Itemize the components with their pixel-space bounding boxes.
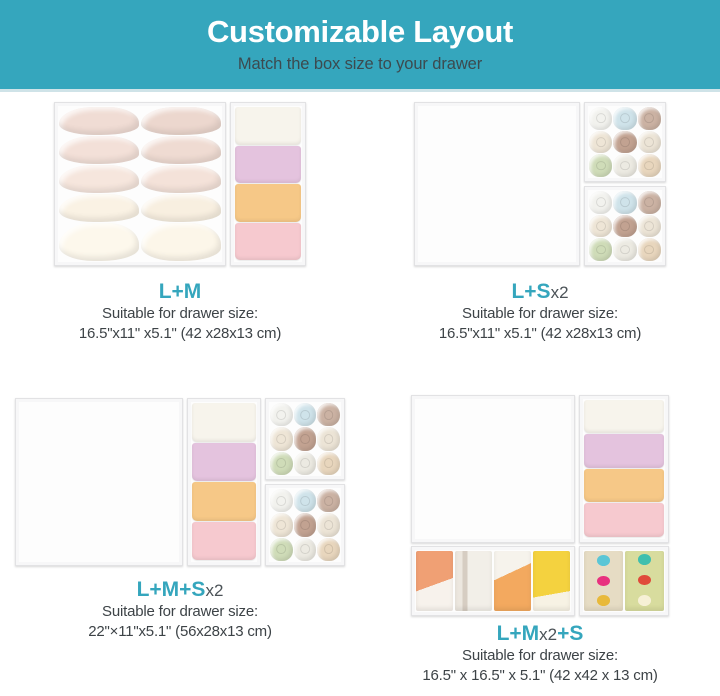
clothes-column-left — [20, 403, 99, 408]
towel — [494, 551, 531, 611]
panel-lmsx2-caption-line2: 22"×11"x5.1" (56x28x13 cm) — [0, 622, 360, 642]
panel-lmx2s-top-row — [411, 395, 669, 543]
folded-underwear — [584, 503, 664, 537]
clothes-column-right — [493, 400, 570, 405]
panel-lmx2s-caption: L+Mx2+S Suitable for drawer size: 16.5" … — [360, 622, 720, 687]
sock-roll-grid — [589, 191, 661, 261]
large-box-clothes — [15, 398, 183, 566]
panel-lsx2-photo — [414, 102, 666, 272]
clothes-column-right — [99, 403, 178, 408]
bra-cup — [141, 107, 221, 135]
panel-lm-caption-line2: 16.5"x11" x5.1" (42 x28x13 cm) — [0, 324, 360, 344]
bra-cup — [141, 165, 221, 193]
towel — [533, 551, 570, 611]
knit-motif — [638, 554, 651, 565]
small-box-knitwear — [579, 546, 669, 616]
panel-lm[interactable]: L+M Suitable for drawer size: 16.5"x11" … — [0, 92, 360, 394]
medium-box-underwear — [187, 398, 261, 566]
folded-underwear — [192, 482, 256, 521]
medium-box-underwear — [230, 102, 306, 266]
sock-roll — [294, 427, 317, 450]
sock-roll — [270, 538, 293, 561]
sock-roll — [589, 215, 612, 238]
bra-row — [59, 194, 221, 222]
sock-roll — [613, 215, 636, 238]
towel — [416, 551, 453, 611]
sock-roll — [270, 452, 293, 475]
sock-roll-grid — [589, 107, 661, 177]
bra-cup — [59, 136, 139, 164]
sock-roll — [317, 538, 340, 561]
panel-lmx2s-caption-line1: Suitable for drawer size: — [360, 646, 720, 666]
panel-lmx2s-caption-line2: 16.5" x 16.5" x 5.1" (42 x42 x 13 cm) — [360, 666, 720, 686]
sock-roll — [613, 154, 636, 177]
combo-main-b: +S — [557, 622, 583, 645]
panel-lsx2-combo: L+Sx2 — [360, 280, 720, 304]
clothes-column-left — [419, 107, 497, 112]
knit-motif — [597, 555, 610, 566]
sock-roll — [638, 107, 661, 130]
folded-underwear — [192, 522, 256, 561]
sock-roll — [294, 403, 317, 426]
large-box-bras — [54, 102, 226, 266]
page-title: Customizable Layout — [207, 15, 513, 49]
sock-roll — [270, 403, 293, 426]
sock-roll — [270, 489, 293, 512]
knit-item — [625, 551, 664, 611]
sock-roll — [613, 238, 636, 261]
sock-roll — [294, 538, 317, 561]
knit-motif — [638, 595, 651, 606]
clothes-column-left — [416, 400, 493, 405]
combo-main: L+M+S — [137, 578, 206, 601]
knit-stack — [584, 551, 664, 611]
sock-roll — [613, 131, 636, 154]
bra-cup — [141, 194, 221, 222]
sock-roll — [589, 154, 612, 177]
underwear-stack — [192, 403, 256, 561]
sock-roll — [638, 131, 661, 154]
combo-main: L+S — [511, 280, 550, 303]
panel-lmx2s-combo: L+Mx2+S — [360, 622, 720, 646]
small-box-socks-1 — [265, 398, 345, 480]
folded-underwear — [584, 469, 664, 503]
panel-lmx2s-photo — [411, 394, 669, 616]
bra-row — [59, 165, 221, 193]
panel-lsx2-caption-line2: 16.5"x11" x5.1" (42 x28x13 cm) — [360, 324, 720, 344]
folded-underwear — [235, 223, 301, 261]
bra-cup — [59, 107, 139, 135]
panel-lsx2-caption-line1: Suitable for drawer size: — [360, 304, 720, 324]
folded-underwear — [192, 443, 256, 482]
panel-lm-combo: L+M — [0, 280, 360, 304]
bra-stack — [59, 107, 221, 261]
panel-lm-caption: L+M Suitable for drawer size: 16.5"x11" … — [0, 280, 360, 345]
sock-roll — [317, 489, 340, 512]
towel-stack — [416, 551, 570, 611]
panel-lmsx2[interactable]: L+M+Sx2 Suitable for drawer size: 22"×11… — [0, 394, 360, 696]
sock-roll — [294, 452, 317, 475]
medium-box-underwear — [579, 395, 669, 543]
panel-lmsx2-caption: L+M+Sx2 Suitable for drawer size: 22"×11… — [0, 578, 360, 643]
sock-roll — [294, 489, 317, 512]
clothes-column-right — [497, 107, 575, 112]
combo-main-a: L+M — [497, 622, 540, 645]
sock-roll — [317, 427, 340, 450]
panel-lmsx2-caption-line1: Suitable for drawer size: — [0, 602, 360, 622]
bra-cup — [59, 194, 139, 222]
page-subtitle: Match the box size to your drawer — [238, 55, 482, 74]
folded-underwear — [584, 434, 664, 468]
folded-underwear — [192, 403, 256, 442]
small-box-socks-2 — [265, 484, 345, 566]
knit-motif — [638, 575, 651, 586]
bra-cup — [59, 165, 139, 193]
page-header: Customizable Layout Match the box size t… — [0, 0, 720, 92]
panel-lmx2s-bottom-row — [411, 546, 669, 616]
sock-roll-grid — [270, 403, 340, 475]
panel-lm-photo — [54, 102, 306, 272]
panel-lmsx2-photo — [15, 398, 345, 570]
panel-lsx2-caption: L+Sx2 Suitable for drawer size: 16.5"x11… — [360, 280, 720, 345]
sock-roll — [589, 107, 612, 130]
folded-underwear — [584, 400, 664, 434]
sock-roll — [317, 403, 340, 426]
large-box-clothes — [414, 102, 580, 266]
underwear-stack — [235, 107, 301, 261]
large-box-towels — [411, 546, 575, 616]
sock-roll — [638, 154, 661, 177]
sock-roll — [589, 191, 612, 214]
panel-lsx2[interactable]: L+Sx2 Suitable for drawer size: 16.5"x11… — [360, 92, 720, 394]
knit-motif — [597, 595, 610, 606]
panel-lm-caption-line1: Suitable for drawer size: — [0, 304, 360, 324]
bra-row — [59, 136, 221, 164]
small-box-stack — [265, 398, 345, 566]
sock-roll — [613, 107, 636, 130]
small-box-socks-1 — [584, 102, 666, 182]
panel-lmsx2-combo: L+M+Sx2 — [0, 578, 360, 602]
sock-roll — [270, 513, 293, 536]
folded-underwear — [235, 107, 301, 145]
underwear-stack — [584, 400, 664, 538]
bra-cup — [141, 223, 221, 261]
sock-roll — [294, 513, 317, 536]
sock-roll — [638, 191, 661, 214]
folded-underwear — [235, 184, 301, 222]
sock-roll — [613, 191, 636, 214]
folded-underwear — [235, 146, 301, 184]
towel — [455, 551, 492, 611]
panel-lmx2s[interactable]: L+Mx2+S Suitable for drawer size: 16.5" … — [360, 394, 720, 696]
small-box-socks-2 — [584, 186, 666, 266]
knit-motif — [597, 576, 610, 587]
bra-cup — [141, 136, 221, 164]
layout-grid: L+M Suitable for drawer size: 16.5"x11" … — [0, 92, 720, 696]
bra-row — [59, 223, 221, 261]
sock-roll-grid — [270, 489, 340, 561]
combo-multiplier: x2 — [551, 283, 569, 302]
sock-roll — [589, 238, 612, 261]
large-box-clothes — [411, 395, 575, 543]
sock-roll — [317, 452, 340, 475]
bra-row — [59, 107, 221, 135]
small-box-stack — [584, 102, 666, 266]
sock-roll — [270, 427, 293, 450]
combo-multiplier: x2 — [539, 625, 557, 644]
combo-multiplier: x2 — [205, 581, 223, 600]
bra-cup — [59, 223, 139, 261]
sock-roll — [638, 215, 661, 238]
combo-main: L+M — [159, 280, 202, 303]
sock-roll — [317, 513, 340, 536]
sock-roll — [638, 238, 661, 261]
sock-roll — [589, 131, 612, 154]
knit-item — [584, 551, 623, 611]
